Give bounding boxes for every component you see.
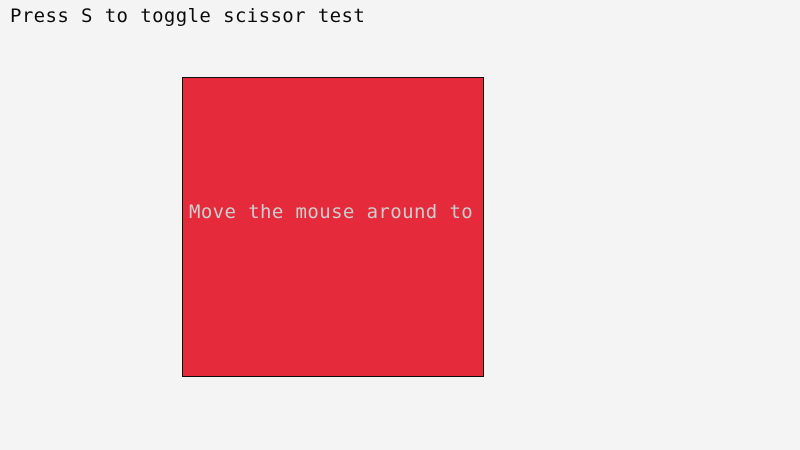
scissor-rectangle[interactable]: Move the mouse around to reveal the hidd… [182, 77, 484, 377]
header-instruction-text: Press S to toggle scissor test [10, 4, 365, 28]
scissor-clipped-message: Move the mouse around to reveal the hidd… [189, 200, 484, 224]
app-canvas[interactable]: Press S to toggle scissor test Move the … [0, 0, 800, 450]
